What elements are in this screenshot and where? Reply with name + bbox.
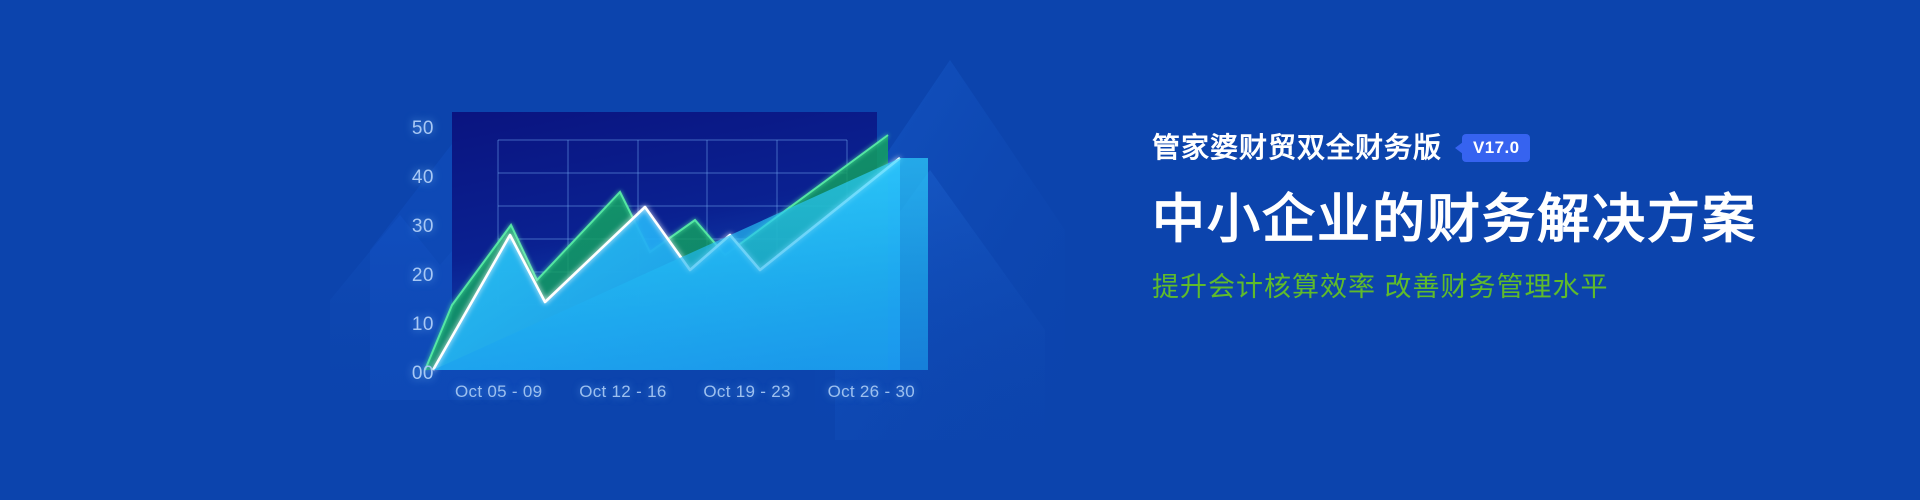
- y-axis-tick: 10: [412, 314, 434, 336]
- x-axis-tick: Oct 05 - 09: [455, 382, 542, 402]
- y-axis-tick: 30: [412, 216, 434, 238]
- x-axis-tick: Oct 26 - 30: [828, 382, 915, 402]
- x-axis-tick: Oct 12 - 16: [579, 382, 666, 402]
- subheadline: 提升会计核算效率 改善财务管理水平: [1152, 271, 1852, 303]
- product-name: 管家婆财贸双全财务版: [1152, 134, 1442, 162]
- version-badge: V17.0: [1462, 134, 1530, 162]
- banner-copy: 管家婆财贸双全财务版 V17.0 中小企业的财务解决方案 提升会计核算效率 改善…: [1152, 128, 1852, 304]
- y-axis-tick: 40: [412, 167, 434, 189]
- x-axis-tick: Oct 19 - 23: [703, 382, 790, 402]
- brand-row: 管家婆财贸双全财务版 V17.0: [1152, 128, 1852, 168]
- promo-banner: 50 40 30 20 10 00 Oct 05 - 09 Oct 12 - 1…: [0, 0, 1920, 500]
- y-axis-tick: 00: [412, 363, 434, 385]
- chart-x-axis: Oct 05 - 09 Oct 12 - 16 Oct 19 - 23 Oct …: [455, 379, 915, 405]
- y-axis-tick: 20: [412, 265, 434, 287]
- chart-y-axis: 50 40 30 20 10 00: [388, 118, 434, 378]
- headline: 中小企业的财务解决方案: [1152, 190, 1852, 249]
- y-axis-tick: 50: [412, 118, 434, 140]
